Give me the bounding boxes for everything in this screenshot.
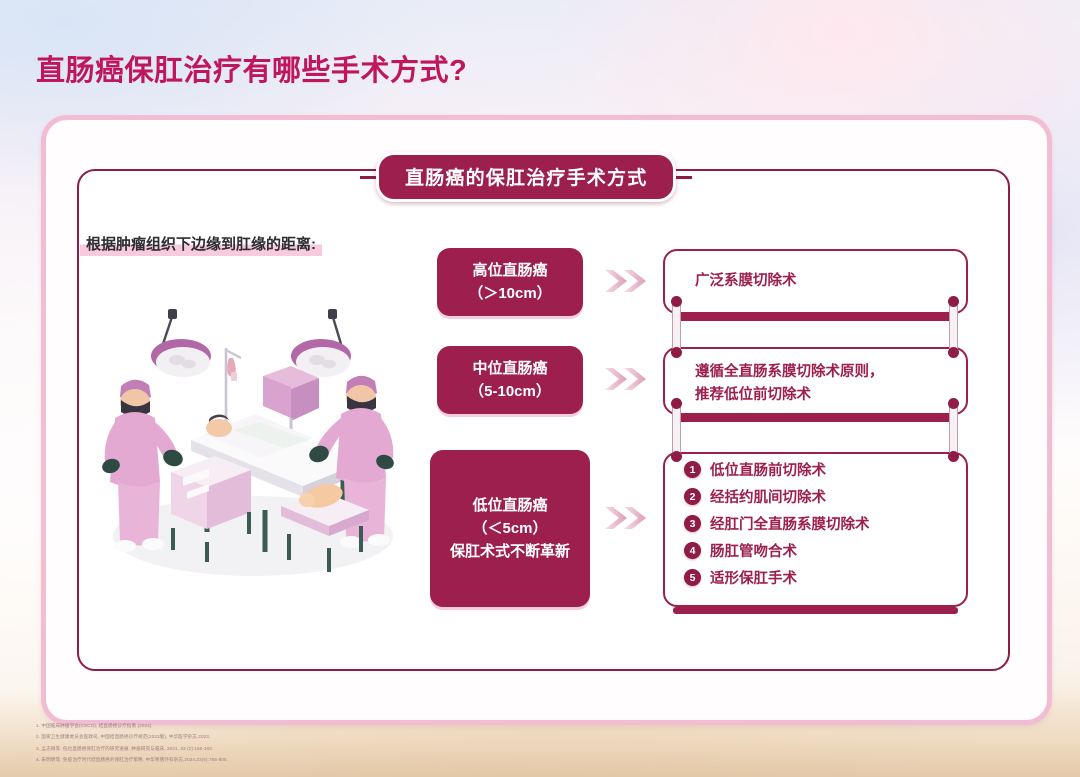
double-chevron-right-icon — [604, 366, 648, 392]
surgery-method-list: 1 低位直肠前切除术 2 经括约肌间切除术 3 经肛门全直肠系膜切除术 4 肠肛… — [684, 459, 870, 588]
list-number-badge: 5 — [684, 569, 701, 586]
list-item-label: 适形保肛手术 — [710, 567, 797, 588]
banner-label: 直肠癌的保肛治疗手术方式 — [376, 152, 676, 202]
page-title: 直肠癌保肛治疗有哪些手术方式? — [36, 47, 467, 89]
section-banner: 直肠癌的保肛治疗手术方式 — [360, 152, 692, 202]
category-box-mid: 中位直肠癌 （5-10cm） — [437, 346, 583, 414]
connector-dot — [671, 347, 682, 358]
connector-post-right-top — [949, 300, 958, 354]
list-number-badge: 4 — [684, 542, 701, 559]
footnote-3: 3. 孟志刚等. 低位直肠癌保肛治疗的研究进展. 肿瘤研究与临床, 2021, … — [36, 743, 228, 754]
category-box-high: 高位直肠癌 （＞10cm） — [437, 248, 583, 316]
banner-tail-right — [676, 176, 692, 179]
subtitle-criteria: 根据肿瘤组织下边缘到肛缘的距离: — [80, 232, 322, 256]
double-chevron-right-icon — [604, 505, 648, 531]
operating-room-illustration — [85, 300, 415, 580]
list-item: 3 经肛门全直肠系膜切除术 — [684, 513, 870, 534]
result-card-mid-text: 遵循全直肠系膜切除术原则， 推荐低位前切除术 — [665, 349, 966, 408]
list-item-label: 经肛门全直肠系膜切除术 — [710, 513, 870, 534]
list-item-label: 低位直肠前切除术 — [710, 459, 826, 480]
list-number-badge: 2 — [684, 488, 701, 505]
category-low-line1: 低位直肠癌 — [472, 494, 547, 517]
connector-dot — [948, 451, 959, 462]
footnote-references: 1. 中国临床肿瘤学会(CSCO), 结直肠癌诊疗指南 (2024) 2. 国家… — [36, 720, 228, 765]
footnote-4: 4. 朱明明等. 免疫治疗时代结直肠癌的保肛治疗策略. 中华胃肠外科杂志,202… — [36, 754, 228, 765]
connector-dot — [948, 296, 959, 307]
list-item-label: 经括约肌间切除术 — [710, 486, 826, 507]
banner-tail-left — [360, 176, 376, 179]
connector-dot — [948, 398, 959, 409]
footnote-2: 2. 国家卫生健康委员会医政司, 中国结直肠癌诊疗规范(2023版), 中华医学… — [36, 731, 228, 742]
result-card-mid: 遵循全直肠系膜切除术原则， 推荐低位前切除术 — [663, 347, 968, 415]
connector-post-left-top — [672, 300, 681, 354]
footnote-1: 1. 中国临床肿瘤学会(CSCO), 结直肠癌诊疗指南 (2024) — [36, 720, 228, 731]
list-item: 4 肠肛管吻合术 — [684, 540, 870, 561]
category-high-line2: （＞10cm） — [468, 282, 551, 305]
result-card-mid-line2: 推荐低位前切除术 — [695, 384, 966, 407]
list-item: 1 低位直肠前切除术 — [684, 459, 870, 480]
list-number-badge: 3 — [684, 515, 701, 532]
connector-post-right-bottom — [949, 402, 958, 458]
connector-dot — [671, 296, 682, 307]
connector-dot — [671, 451, 682, 462]
connector-dot — [671, 398, 682, 409]
list-item: 2 经括约肌间切除术 — [684, 486, 870, 507]
category-low-line3: 保肛术式不断革新 — [450, 540, 570, 563]
result-card-high: 广泛系膜切除术 — [663, 249, 968, 314]
result-card-high-text: 广泛系膜切除术 — [665, 251, 966, 293]
list-item-label: 肠肛管吻合术 — [710, 540, 797, 561]
category-high-line1: 高位直肠癌 — [472, 259, 547, 282]
result-card-mid-line1: 遵循全直肠系膜切除术原则， — [695, 361, 966, 384]
connector-dot — [948, 347, 959, 358]
category-low-line2: （＜5cm） — [472, 517, 547, 540]
list-item: 5 适形保肛手术 — [684, 567, 870, 588]
category-mid-line1: 中位直肠癌 — [472, 357, 547, 380]
double-chevron-right-icon — [604, 268, 648, 294]
connector-post-left-bottom — [672, 402, 681, 458]
list-number-badge: 1 — [684, 461, 701, 478]
category-box-low: 低位直肠癌 （＜5cm） 保肛术式不断革新 — [430, 450, 590, 607]
category-mid-line2: （5-10cm） — [469, 380, 551, 403]
